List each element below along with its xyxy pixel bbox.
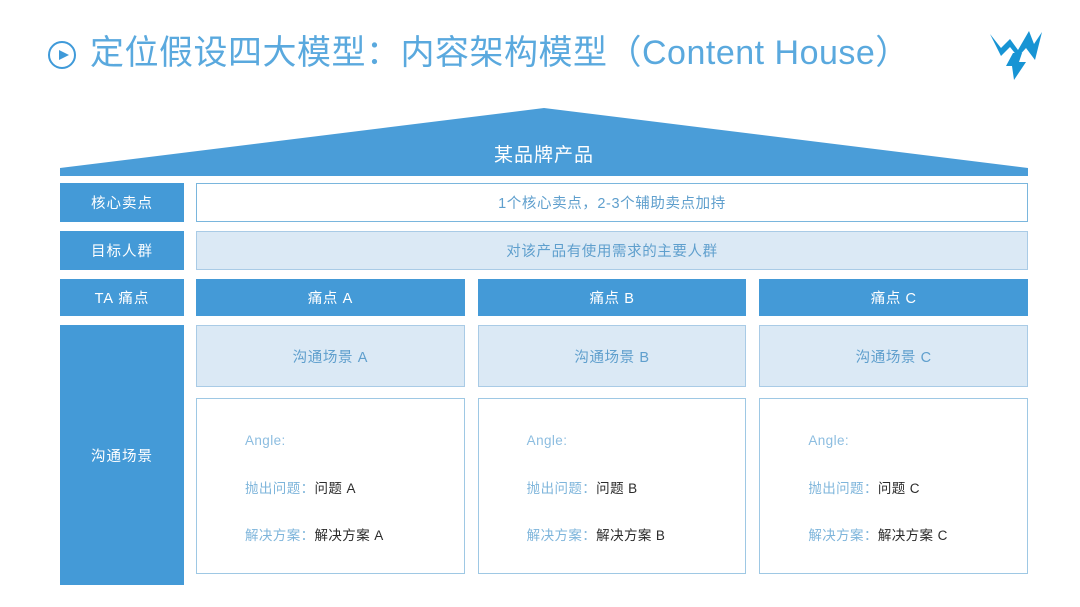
angle-solution-value: 解决方案 C [878,528,948,543]
pain-point-box: 痛点 A [196,279,465,316]
angle-question-line: 抛出问题：问题 A [245,482,464,496]
pain-point-columns: 痛点 A 痛点 B 痛点 C [196,279,1028,316]
angle-solution-line: 解决方案：解决方案 C [808,529,1027,543]
angle-solution-key: 解决方案： [245,528,315,543]
value-core-selling-point: 1个核心卖点，2-3个辅助卖点加持 [196,183,1028,222]
house-roof: 某品牌产品 [60,108,1028,176]
column-gap [184,325,196,585]
brand-w-logo-icon [988,26,1044,82]
scenario-box: 沟通场景 C [759,325,1028,387]
angle-solution-line: 解决方案：解决方案 B [527,529,746,543]
angle-question-value: 问题 A [315,481,356,496]
angle-label: Angle: [527,434,746,448]
angle-question-line: 抛出问题：问题 C [808,482,1027,496]
pain-point-box: 痛点 C [759,279,1028,316]
angle-card: Angle: 抛出问题：问题 C 解决方案：解决方案 C [759,398,1028,574]
play-circle-icon [48,41,76,69]
angle-solution-line: 解决方案：解决方案 A [245,529,464,543]
angle-question-key: 抛出问题： [245,481,315,496]
scenario-box: 沟通场景 B [478,325,747,387]
angle-question-value: 问题 B [596,481,637,496]
angle-solution-value: 解决方案 A [315,528,384,543]
row-ta-pain-points: TA 痛点 痛点 A 痛点 B 痛点 C [60,279,1028,316]
roof-label: 某品牌产品 [60,108,1028,176]
angle-question-key: 抛出问题： [808,481,878,496]
slide-canvas: 定位假设四大模型：内容架构模型（Content House） 某品牌产品 核心卖… [0,0,1080,607]
angle-question-key: 抛出问题： [527,481,597,496]
angle-question-value: 问题 C [878,481,920,496]
column-gap [184,183,196,222]
scenario-stack: 沟通场景 A 沟通场景 B 沟通场景 C Angle: 抛出问题：问题 A 解决… [196,325,1028,585]
scenario-box: 沟通场景 A [196,325,465,387]
row-target-audience: 目标人群 对该产品有使用需求的主要人群 [60,231,1028,270]
angle-label: Angle: [808,434,1027,448]
row-core-selling-point: 核心卖点 1个核心卖点，2-3个辅助卖点加持 [60,183,1028,222]
column-gap [184,231,196,270]
angle-solution-key: 解决方案： [527,528,597,543]
angle-label: Angle: [245,434,464,448]
label-core-selling-point: 核心卖点 [60,183,184,222]
label-ta-pain-points: TA 痛点 [60,279,184,316]
pain-point-box: 痛点 B [478,279,747,316]
scenario-header-row: 沟通场景 A 沟通场景 B 沟通场景 C [196,325,1028,387]
label-communication-scenarios: 沟通场景 [60,325,184,585]
column-gap [184,279,196,316]
angle-solution-value: 解决方案 B [596,528,665,543]
page-title: 定位假设四大模型：内容架构模型（Content House） [90,28,910,78]
row-communication-scenarios: 沟通场景 沟通场景 A 沟通场景 B 沟通场景 C Angle: 抛出问题：问题… [60,325,1028,585]
angle-card: Angle: 抛出问题：问题 B 解决方案：解决方案 B [478,398,747,574]
house-body: 核心卖点 1个核心卖点，2-3个辅助卖点加持 目标人群 对该产品有使用需求的主要… [60,183,1028,585]
angle-solution-key: 解决方案： [808,528,878,543]
label-target-audience: 目标人群 [60,231,184,270]
angle-card: Angle: 抛出问题：问题 A 解决方案：解决方案 A [196,398,465,574]
value-target-audience: 对该产品有使用需求的主要人群 [196,231,1028,270]
angle-card-row: Angle: 抛出问题：问题 A 解决方案：解决方案 A Angle: 抛出问题… [196,398,1028,574]
slide-header: 定位假设四大模型：内容架构模型（Content House） [0,0,1080,108]
angle-question-line: 抛出问题：问题 B [527,482,746,496]
